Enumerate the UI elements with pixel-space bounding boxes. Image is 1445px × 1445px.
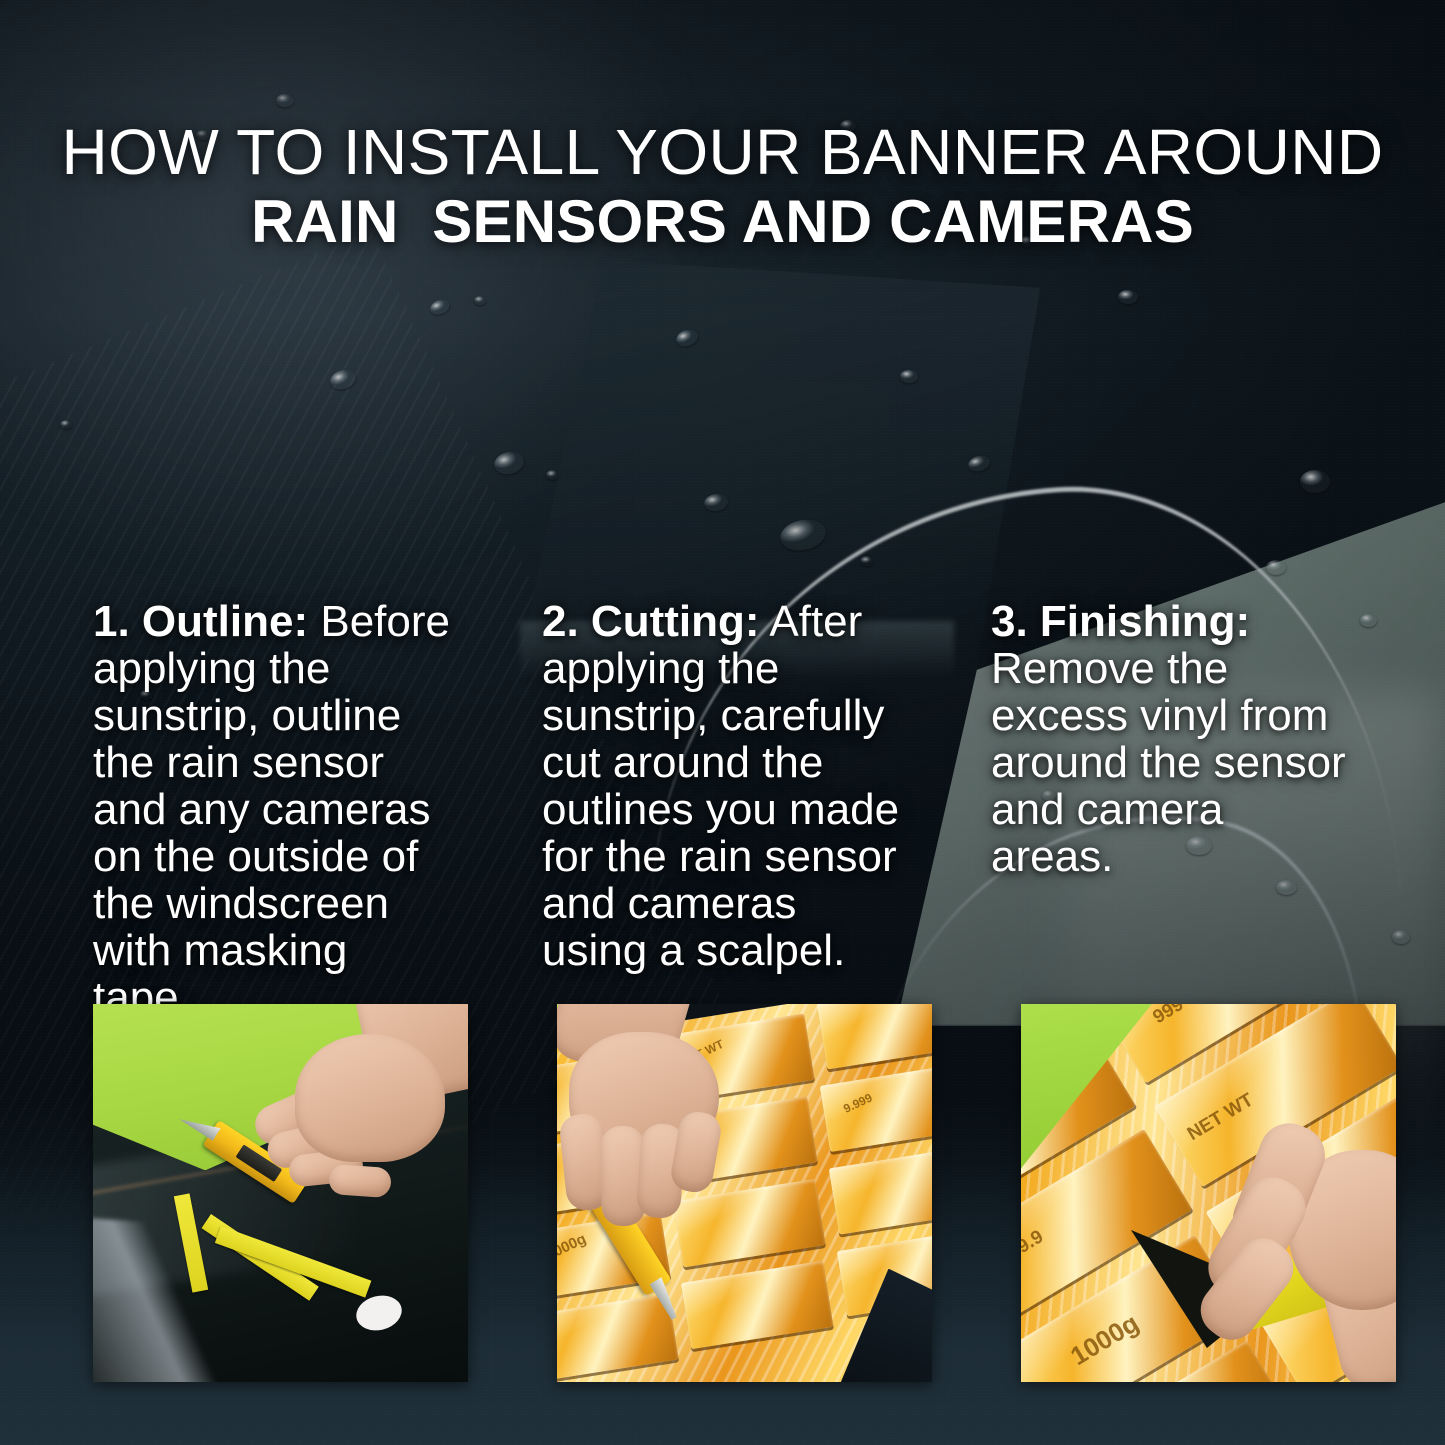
page-title: HOW TO INSTALL YOUR BANNER AROUND RAIN S… xyxy=(0,118,1445,254)
step-2-label: 2. Cutting: xyxy=(542,597,760,646)
step-2-text: 2. Cutting: After applying the sunstrip,… xyxy=(542,598,902,974)
photo-cutting-vinyl-sunstrip-with-knife: 1000g NET WT 9.999 xyxy=(557,1004,932,1382)
step-1-text: 1. Outline: Before applying the sunstrip… xyxy=(93,598,453,1021)
page-title-line-2: RAIN SENSORS AND CAMERAS xyxy=(0,190,1445,254)
step-2-body: After applying the sunstrip, carefully c… xyxy=(542,597,899,975)
step-3-text: 3. Finishing: Remove the excess vinyl fr… xyxy=(991,598,1351,880)
steps-row: 1. Outline: Before applying the sunstrip… xyxy=(93,598,1352,1021)
page-title-line-1: HOW TO INSTALL YOUR BANNER AROUND xyxy=(0,118,1445,186)
installer-hand xyxy=(243,1004,468,1216)
step-3-body: Remove the excess vinyl from around the … xyxy=(991,644,1346,881)
infographic-canvas: HOW TO INSTALL YOUR BANNER AROUND RAIN S… xyxy=(0,0,1445,1445)
palm xyxy=(295,1034,445,1162)
photos-row: 1000g NET WT 9.999 xyxy=(93,1004,1396,1382)
step-2-cutting: 2. Cutting: After applying the sunstrip,… xyxy=(542,598,902,1021)
photo-removing-excess-vinyl-from-sensor-area: 1000g 9.9 NET WT 999 9.999 xyxy=(1021,1004,1396,1382)
step-1-label: 1. Outline: xyxy=(93,597,308,646)
step-3-label: 3. Finishing: xyxy=(991,597,1250,646)
photo-outlining-rain-sensor-with-masking-tape xyxy=(93,1004,468,1382)
finger xyxy=(328,1164,392,1198)
installer-hand xyxy=(1230,1116,1396,1366)
step-3-finishing: 3. Finishing: Remove the excess vinyl fr… xyxy=(991,598,1351,1021)
step-1-outline: 1. Outline: Before applying the sunstrip… xyxy=(93,598,453,1021)
step-1-body: Before applying the sunstrip, outline th… xyxy=(93,597,450,1022)
installer-hand xyxy=(557,1004,773,1246)
